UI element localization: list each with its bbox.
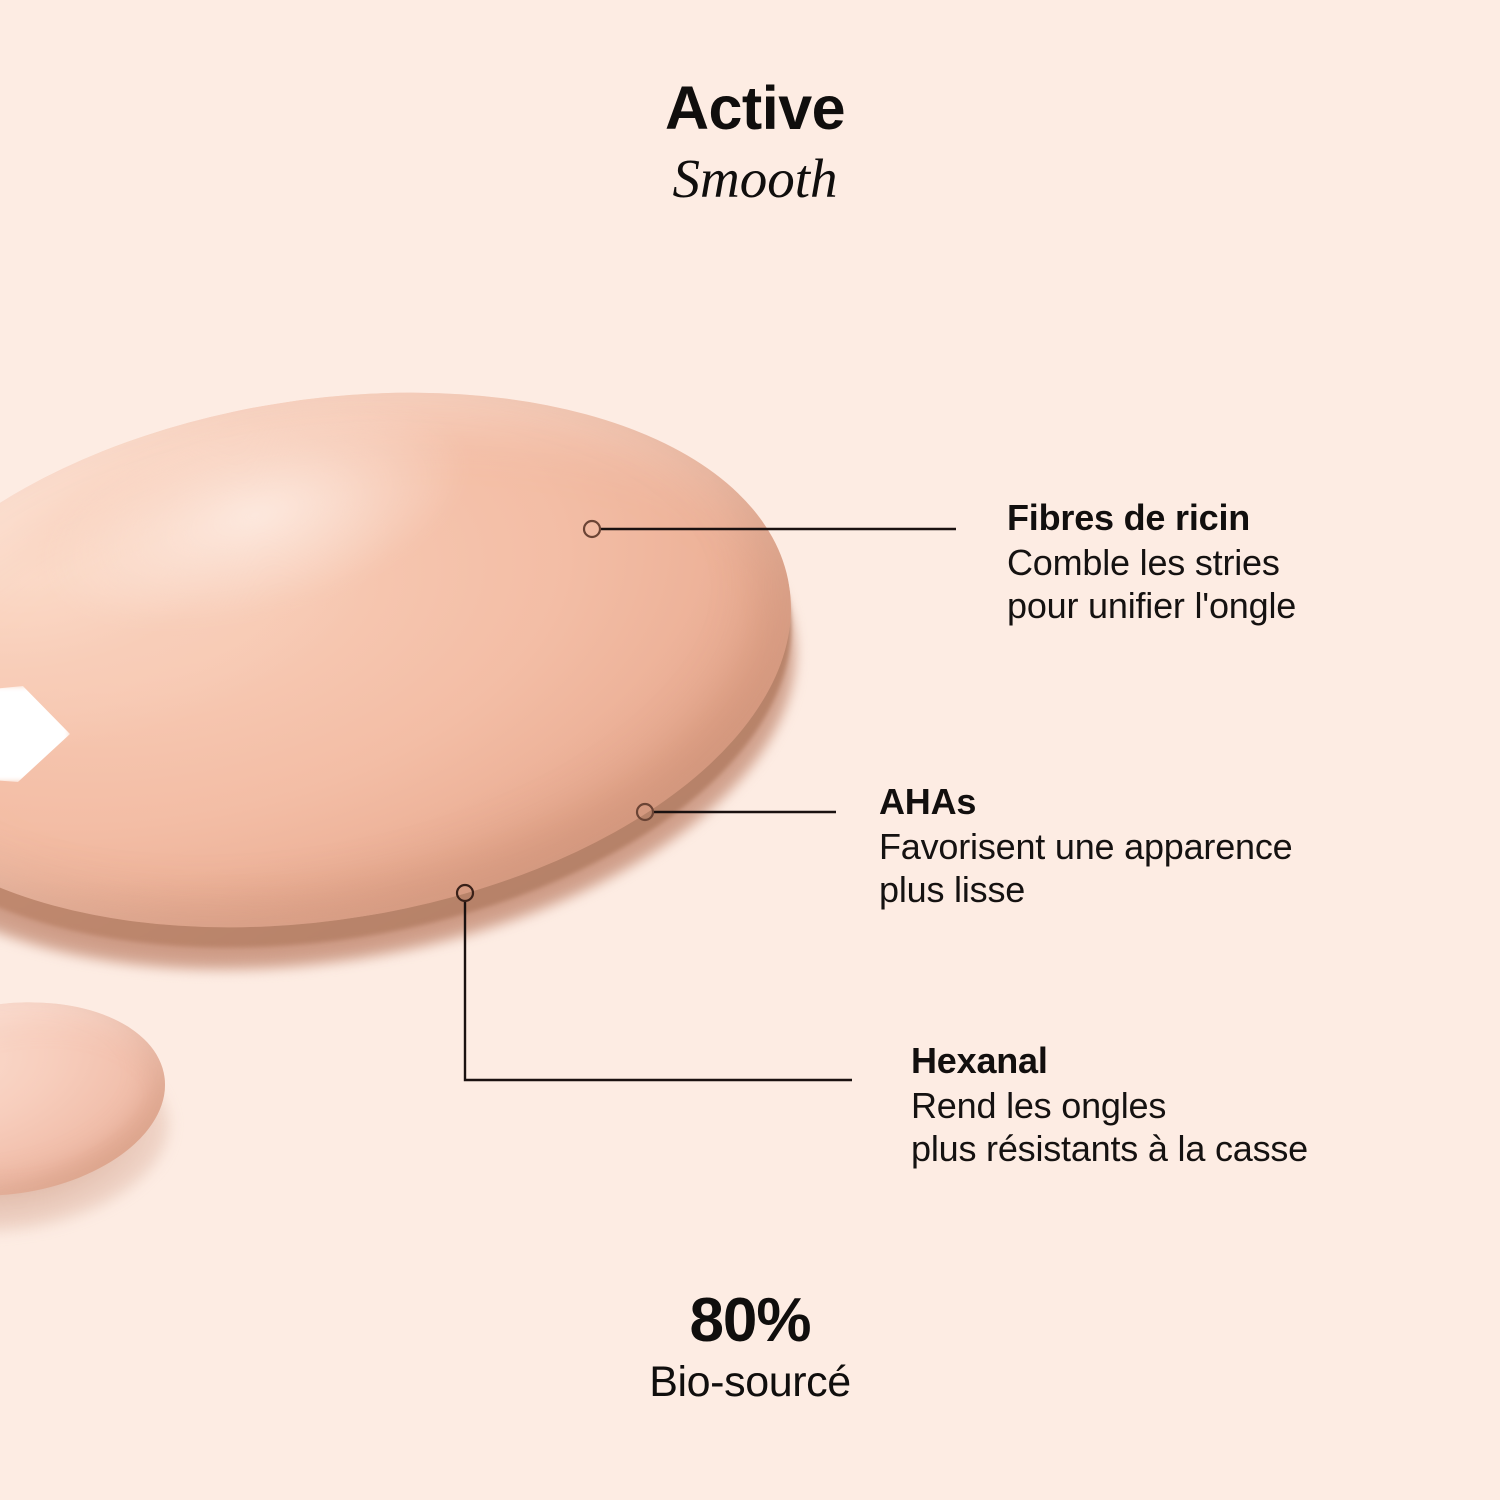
callout-hexanal: Hexanal Rend les ongles plus résistants … (911, 1040, 1308, 1170)
callout-ahas: AHAs Favorisent une apparence plus lisse (879, 781, 1292, 911)
product-infographic: Active Smooth Fibres de ricin Comble les… (0, 0, 1500, 1500)
stat-label: Bio-sourcé (0, 1357, 1500, 1409)
callout-description-ahas: Favorisent une apparence plus lisse (879, 825, 1292, 911)
callout-title-fibres-de-ricin: Fibres de ricin (1007, 497, 1296, 539)
callout-title-ahas: AHAs (879, 781, 1292, 823)
footer-stat-block: 80% Bio-sourcé (0, 1288, 1500, 1409)
leader-marker-dot-fibres (584, 521, 600, 537)
callout-title-hexanal: Hexanal (911, 1040, 1308, 1082)
callout-fibres-de-ricin: Fibres de ricin Comble les stries pour u… (1007, 497, 1296, 627)
callout-description-hexanal: Rend les ongles plus résistants à la cas… (911, 1084, 1308, 1170)
leader-line-hexanal (457, 885, 852, 1080)
leader-line-fibres-de-ricin (584, 521, 956, 537)
callout-description-fibres-de-ricin: Comble les stries pour unifier l'ongle (1007, 541, 1296, 627)
leader-marker-dot-hexanal (457, 885, 473, 901)
callout-leader-lines (0, 0, 1500, 1500)
stat-value: 80% (0, 1288, 1500, 1353)
leader-marker-dot-ahas (637, 804, 653, 820)
leader-line-ahas (637, 804, 836, 820)
